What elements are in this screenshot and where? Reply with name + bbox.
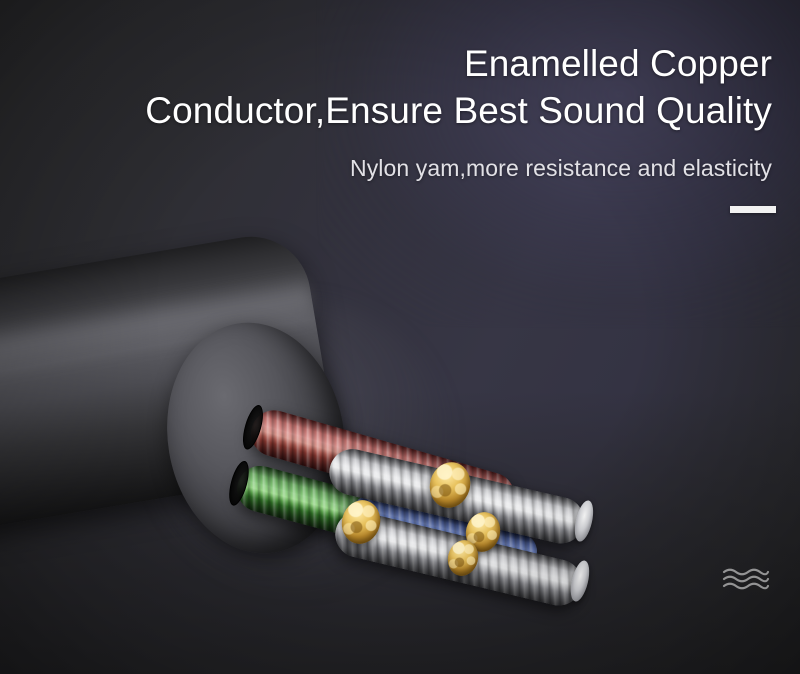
background-vignette: [0, 0, 800, 674]
waves-icon: [722, 566, 770, 592]
accent-bar: [730, 206, 776, 213]
product-banner: Enamelled Copper Conductor,Ensure Best S…: [0, 0, 800, 674]
